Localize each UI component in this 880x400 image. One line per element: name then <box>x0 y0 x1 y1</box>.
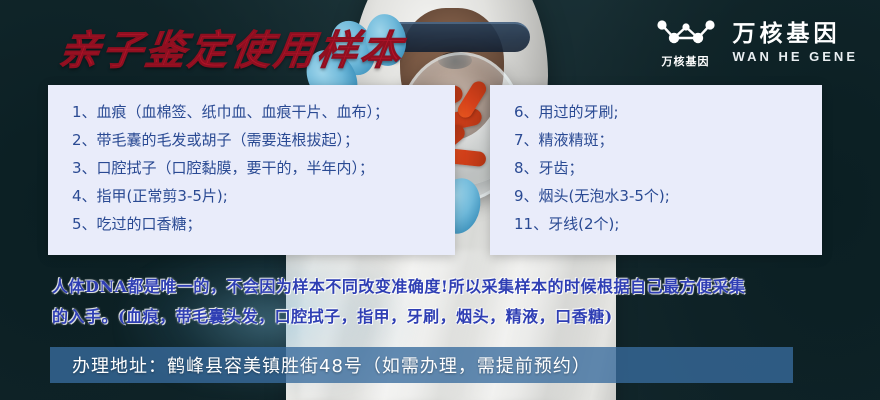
dna-molecule-icon <box>655 16 717 50</box>
address-bar: 办理地址：鹤峰县容美镇胜街48号（如需办理，需提前预约） <box>50 347 793 383</box>
list-item: 5、吃过的口香糖； <box>72 210 455 238</box>
list-item: 1、血痕（血棉签、纸巾血、血痕干片、血布）； <box>72 98 455 126</box>
poster-banner: 亲子鉴定使用样本 <box>0 0 880 400</box>
address-text: 办理地址：鹤峰县容美镇胜街48号（如需办理，需提前预约） <box>50 352 591 378</box>
logo-wordmark: 万核基因 WAN HE GENE <box>733 21 858 63</box>
note-paragraph: 人体DNA都是唯一的，不会因为样本不同改变准确度!所以采集样本的时候根据自己最方… <box>52 272 836 332</box>
logo-mark-caption: 万核基因 <box>662 53 710 69</box>
sample-list-panel-left: 1、血痕（血棉签、纸巾血、血痕干片、血布）； 2、带毛囊的毛发或胡子（需要连根拔… <box>48 85 455 255</box>
note-line-1: 人体DNA都是唯一的，不会因为样本不同改变准确度!所以采集样本的时候根据自己最方… <box>52 272 836 302</box>
list-item: 8、牙齿； <box>514 154 822 182</box>
logo-mark: 万核基因 <box>655 16 717 69</box>
brand-name-en: WAN HE GENE <box>733 49 858 64</box>
list-item: 3、口腔拭子（口腔黏膜，要干的，半年内）； <box>72 154 455 182</box>
list-item: 7、精液精斑； <box>514 126 822 154</box>
list-item: 4、指甲(正常剪3-5片); <box>72 182 455 210</box>
brand-logo: 万核基因 万核基因 WAN HE GENE <box>655 16 858 69</box>
page-title: 亲子鉴定使用样本 <box>56 18 408 76</box>
note-line-2: 的入手。(血痕，带毛囊头发，口腔拭子，指甲，牙刷，烟头，精液，口香糖) <box>52 302 836 332</box>
list-item: 6、用过的牙刷; <box>514 98 822 126</box>
list-item: 2、带毛囊的毛发或胡子（需要连根拔起）； <box>72 126 455 154</box>
sample-list-panel-right: 6、用过的牙刷; 7、精液精斑； 8、牙齿； 9、烟头(无泡水3-5个); 11… <box>490 85 822 255</box>
sample-list-left: 1、血痕（血棉签、纸巾血、血痕干片、血布）； 2、带毛囊的毛发或胡子（需要连根拔… <box>48 85 455 238</box>
brand-name-cn: 万核基因 <box>733 21 858 46</box>
list-item: 11、牙线(2个); <box>514 210 822 238</box>
list-item: 9、烟头(无泡水3-5个); <box>514 182 822 210</box>
sample-list-right: 6、用过的牙刷; 7、精液精斑； 8、牙齿； 9、烟头(无泡水3-5个); 11… <box>490 85 822 238</box>
